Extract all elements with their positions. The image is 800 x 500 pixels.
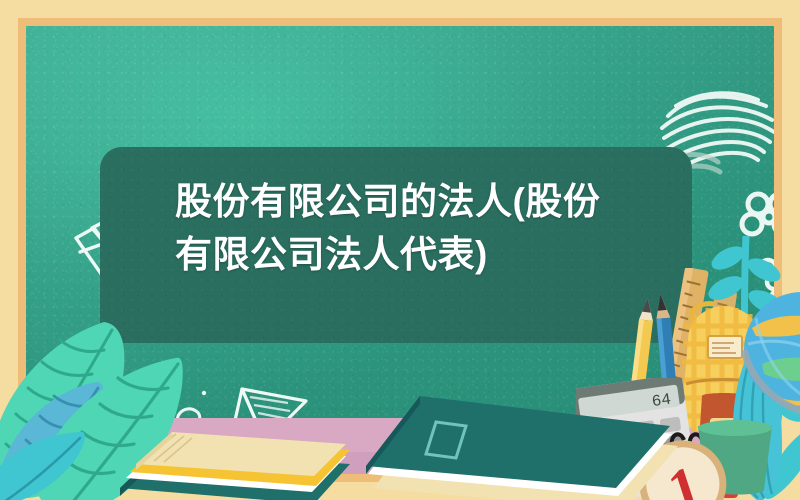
- teal-leaf-small-icon: [0, 424, 90, 500]
- page-title: 股份有限公司的法人(股份 有限公司法人代表): [175, 176, 695, 281]
- teal-hardcover-book-icon: [366, 392, 686, 500]
- stacked-books-icon: [118, 416, 358, 500]
- banner-image: 股份有限公司的法人(股份 有限公司法人代表): [0, 0, 800, 500]
- page-title-line-1: 股份有限公司的法人(股份: [175, 176, 695, 229]
- page-title-line-2: 有限公司法人代表): [175, 229, 695, 282]
- globe-icon: [742, 288, 800, 418]
